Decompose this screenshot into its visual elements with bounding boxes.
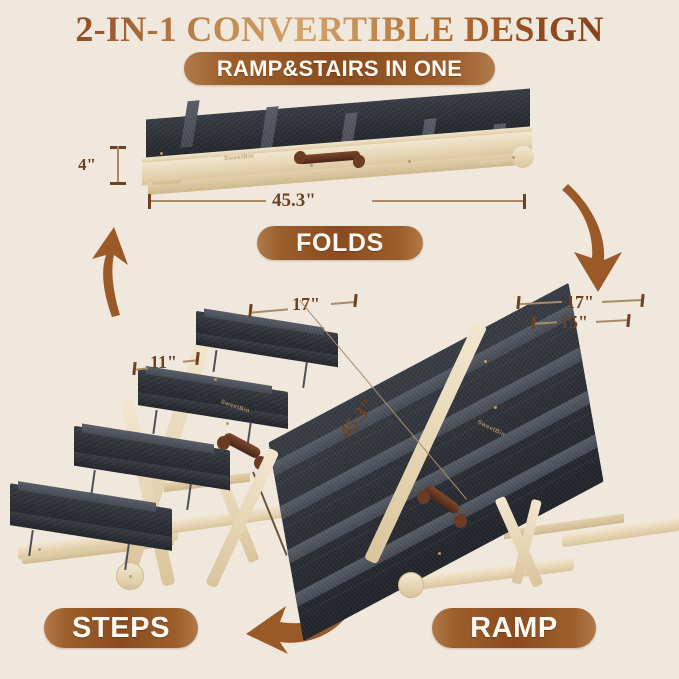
dimension-label-15-ramp: 15" xyxy=(560,312,588,333)
dimension-label-length: 45.3" xyxy=(272,190,316,212)
dimension-label-height: 4" xyxy=(78,155,96,175)
dimension-label-17-ramp: 17" xyxy=(566,292,594,313)
subtitle-badge: RAMP&STAIRS IN ONE xyxy=(184,52,495,85)
dimension-cap-bottom xyxy=(110,182,126,185)
folds-badge: FOLDS xyxy=(257,226,423,260)
dimension-label-11-stairs: 11" xyxy=(150,352,177,373)
dimension-cap-right xyxy=(523,194,526,209)
dimension-line-height xyxy=(117,146,119,184)
dimension-line-left xyxy=(151,200,266,202)
curved-arrow-down-right-icon xyxy=(552,180,642,300)
folded-product-illustration: SweetBin xyxy=(120,98,540,203)
infographic-canvas: 2-IN-1 CONVERTIBLE DESIGN RAMP&STAIRS IN… xyxy=(0,0,679,679)
steps-badge: STEPS xyxy=(44,608,198,648)
dimension-cap-left xyxy=(148,194,151,209)
dimension-line-right xyxy=(372,200,524,202)
page-title: 2-IN-1 CONVERTIBLE DESIGN xyxy=(0,8,679,50)
ramp-badge: RAMP xyxy=(432,608,596,648)
